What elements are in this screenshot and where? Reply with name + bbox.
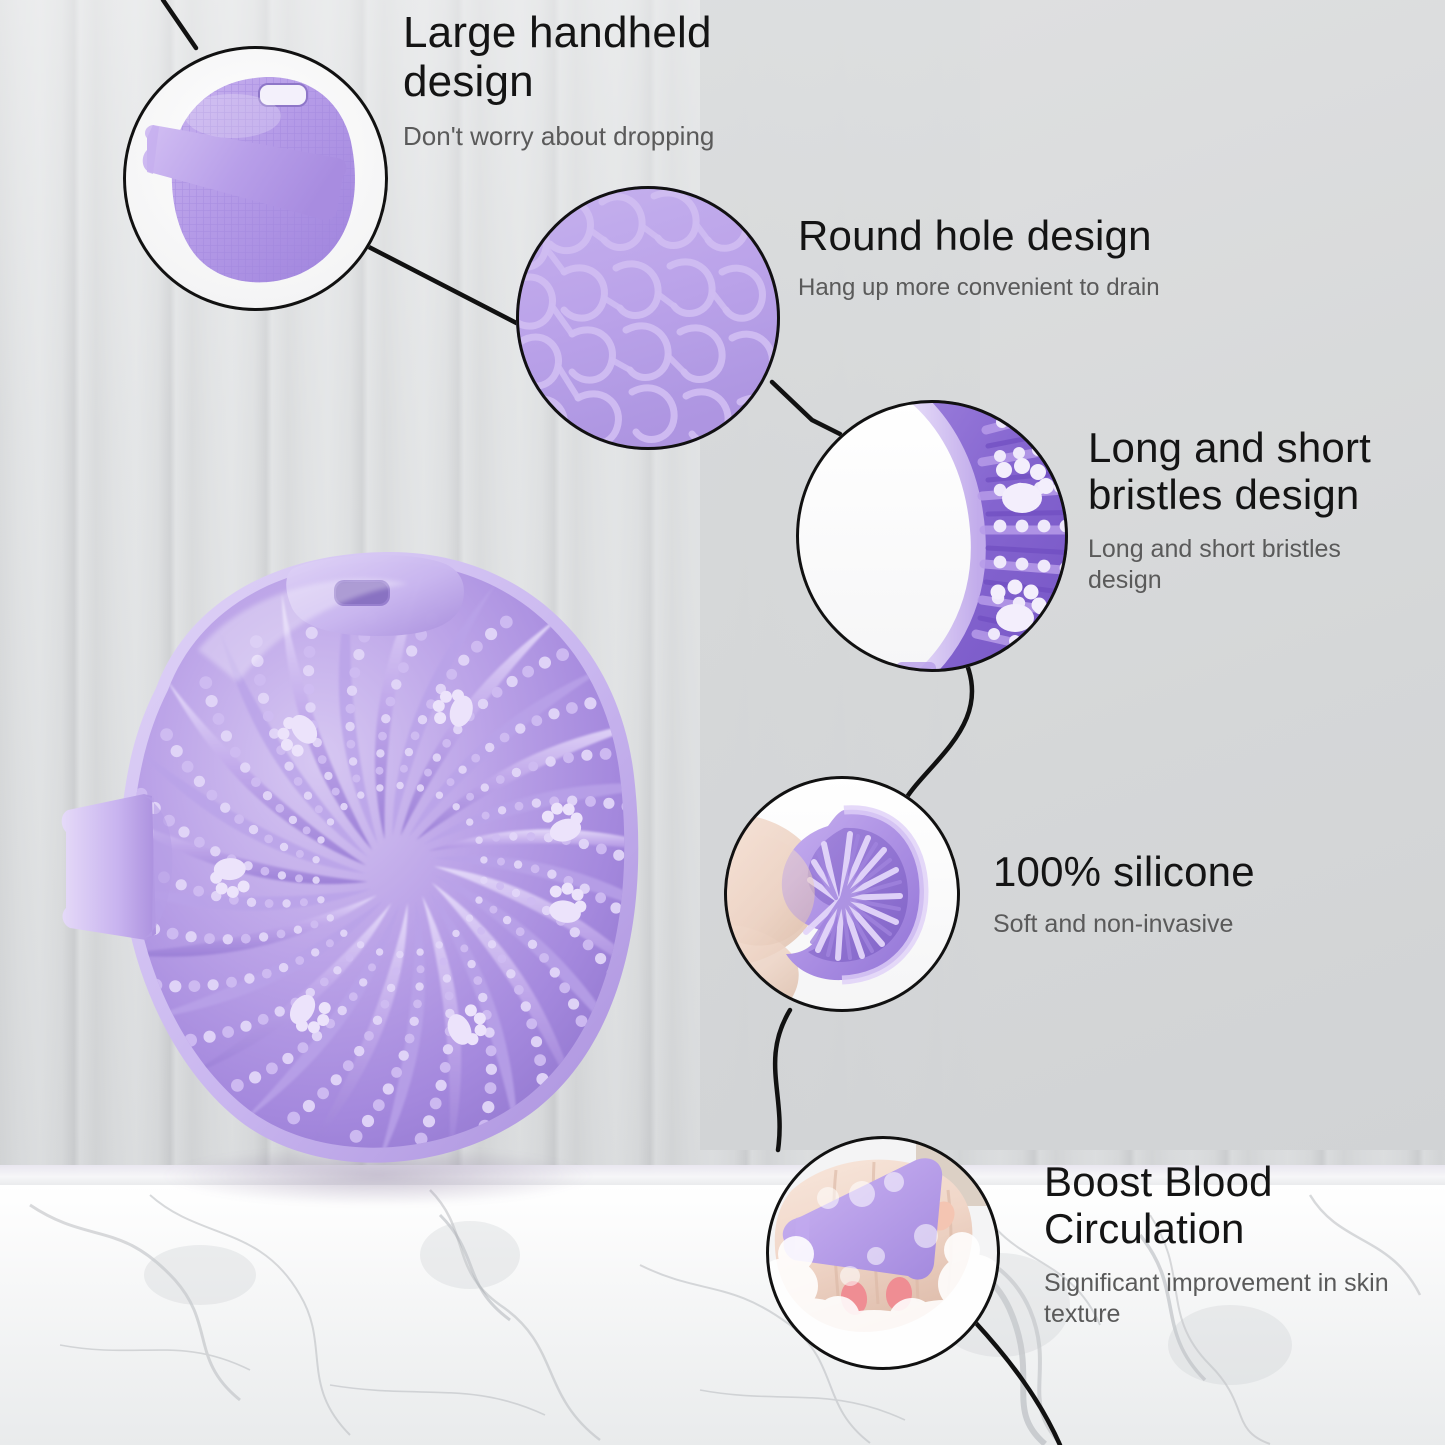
bristle-dot — [547, 870, 556, 879]
bristle-dot — [304, 792, 312, 800]
feature-text-silicone: 100% silicone Soft and non-invasive — [993, 848, 1393, 940]
bristle-dot — [222, 1026, 234, 1038]
bristle-dot — [436, 792, 443, 799]
bristle-dot — [515, 723, 525, 733]
feature-title-3-line2: bristles design — [1088, 471, 1359, 518]
bristle-dot — [354, 1046, 364, 1056]
bristle-dot — [405, 748, 413, 756]
bristle-dot — [312, 856, 319, 863]
feature-text-blood-circulation: Boost Blood Circulation Significant impr… — [1044, 1158, 1424, 1329]
bristle-dot — [258, 693, 269, 704]
bristle-dot — [261, 867, 270, 876]
bristle-dot — [160, 728, 173, 741]
bristle-dot — [193, 886, 204, 897]
feature-subtitle-1: Don't worry about dropping — [403, 121, 823, 153]
bristle-dot — [512, 889, 520, 897]
bristle-dot — [466, 818, 473, 825]
bristle-dot — [424, 769, 432, 777]
bristle-dot — [481, 783, 489, 791]
bristle-dot — [340, 930, 347, 937]
bristle-dot — [496, 882, 504, 890]
bristle-dot — [522, 666, 534, 678]
feature-subtitle-3: Long and short bristles design — [1088, 534, 1418, 595]
bristle-dot — [528, 940, 537, 949]
bristle-dot — [478, 993, 487, 1002]
bristle-dot — [194, 837, 205, 848]
bristle-dot — [475, 837, 482, 844]
bristle-dot — [304, 646, 316, 658]
bristle-dot — [376, 948, 383, 955]
bristle-dot — [488, 940, 496, 948]
feature-title-5-line2: Circulation — [1044, 1205, 1245, 1252]
bristle-dot — [398, 662, 409, 673]
bristle-dot — [306, 627, 318, 639]
bristle-dot — [471, 641, 483, 653]
callout-image-large-handheld — [123, 46, 388, 311]
bristle-dot — [310, 920, 318, 928]
bristle-dot — [639, 926, 651, 938]
feature-title-4: 100% silicone — [993, 848, 1393, 895]
feature-title-5: Boost Blood Circulation — [1044, 1158, 1424, 1252]
bristle-dot — [282, 1053, 293, 1064]
bristle-dot — [327, 914, 334, 921]
bristle-dot — [539, 953, 549, 963]
bristle-dot — [346, 704, 356, 714]
bristle-dot — [178, 826, 189, 837]
bristle-dot — [376, 767, 384, 775]
feature-title-3: Long and short bristles design — [1088, 424, 1418, 518]
bristle-dot — [423, 1115, 435, 1127]
bristle-dot — [600, 748, 612, 760]
bristle-dot — [581, 750, 592, 761]
bristle-dot — [583, 940, 594, 951]
bristle-dot — [443, 1044, 453, 1054]
bristle-dot — [467, 960, 475, 968]
bristle-dot — [566, 702, 578, 714]
bristle-dot — [362, 1115, 374, 1127]
bristle-dot — [532, 798, 541, 807]
bristle-dot — [210, 846, 220, 856]
bristle-dot — [340, 803, 347, 810]
bristle-dot — [263, 711, 274, 722]
bristle-dot — [617, 983, 629, 995]
bristle-dot — [436, 941, 443, 948]
bristle-dot — [478, 699, 488, 709]
bristle-dot — [596, 844, 607, 855]
bristle-dot — [186, 931, 197, 942]
bristle-dot — [353, 649, 364, 660]
bristle-dot — [347, 686, 357, 696]
bristle-dot — [221, 730, 232, 741]
bristle-dot — [486, 1064, 497, 1075]
bristle-dot — [516, 927, 525, 936]
bristle-dot — [415, 982, 423, 990]
bristle-dot — [320, 978, 329, 987]
bristle-dot — [343, 1060, 354, 1071]
bristle-dot — [570, 927, 580, 937]
bristle-dot — [595, 892, 606, 903]
bristle-dot — [568, 998, 579, 1009]
bristle-dot — [500, 733, 510, 743]
bristle-dot — [447, 778, 455, 786]
bristle-dot — [473, 976, 482, 985]
bristle-dot — [531, 864, 540, 873]
bristle-dot — [303, 665, 314, 676]
bristle-dot — [295, 956, 304, 965]
bristle-dot — [663, 875, 676, 888]
bristle-dot — [349, 757, 357, 765]
bristle-dot — [514, 860, 522, 868]
bristle-dot — [350, 1130, 363, 1143]
bristle-dot — [277, 930, 286, 939]
feature-title-5-line1: Boost Blood — [1044, 1158, 1273, 1205]
bristle-dot — [506, 969, 515, 978]
bristle-dot — [244, 973, 254, 983]
bristle-dot — [381, 714, 390, 723]
bristle-dot — [527, 832, 536, 841]
bristle-dot — [471, 754, 480, 763]
bristle-dot — [528, 762, 538, 772]
bristle-dot — [258, 1014, 269, 1025]
bristle-dot — [627, 999, 640, 1012]
feature-title-2: Round hole design — [798, 212, 1268, 259]
bristle-dot — [315, 805, 323, 813]
bristle-dot — [526, 1018, 537, 1029]
bristle-dot — [453, 803, 460, 810]
feature-subtitle-5: Significant improvement in skin texture — [1044, 1268, 1424, 1329]
bristle-dot — [417, 965, 425, 973]
bristle-dot — [284, 762, 293, 771]
bristle-dot — [638, 749, 651, 762]
bristle-dot — [492, 834, 500, 842]
bristle-dot — [223, 934, 233, 944]
bristle-dot — [658, 810, 671, 823]
bristle-dot — [458, 655, 469, 666]
bristle-dot — [194, 776, 205, 787]
bristle-dot — [446, 669, 457, 680]
bristle-dot — [411, 731, 420, 740]
main-product-image — [48, 540, 688, 1220]
bristle-dot — [445, 992, 454, 1001]
bristle-dot — [440, 1062, 451, 1073]
bristle-dot — [333, 966, 341, 974]
bristle-dot — [317, 1087, 329, 1099]
feature-title-1-line2: design — [403, 57, 534, 106]
bristle-dot — [263, 791, 272, 800]
feature-title-3-line1: Long and short — [1088, 424, 1371, 471]
bristle-dot — [266, 1063, 278, 1075]
bristle-dot — [176, 879, 187, 890]
bristle-dot — [496, 775, 505, 784]
bristle-dot — [317, 836, 324, 843]
bristle-dot — [436, 1080, 447, 1091]
bristle-dot — [182, 761, 194, 773]
bristle-dot — [287, 1112, 300, 1125]
bristle-dot — [460, 944, 468, 952]
bristle-dot — [279, 963, 288, 972]
bristle-dot — [507, 676, 518, 687]
bristle-dot — [400, 765, 408, 773]
bristle-dot — [213, 713, 225, 725]
bristle-dot — [349, 667, 360, 678]
bristle-dot — [357, 791, 364, 798]
bristle-dot — [376, 749, 384, 757]
bristle-dot — [338, 1006, 347, 1015]
bristle-dot — [399, 1050, 409, 1060]
feature-title-1: Large handheld design — [403, 8, 823, 107]
bristle-dot — [167, 928, 179, 940]
bristle-dot — [318, 755, 327, 764]
feature-subtitle-4: Soft and non-invasive — [993, 909, 1393, 940]
bristle-dot — [331, 1074, 342, 1085]
bristle-dot — [251, 777, 261, 787]
bristle-dot — [406, 645, 417, 656]
bristle-dot — [534, 1054, 546, 1066]
bristle-dot — [189, 980, 201, 992]
bristle-dot — [326, 939, 334, 947]
bristle-dot — [247, 898, 256, 907]
bristle-dot — [489, 906, 497, 914]
bristle-dot — [548, 708, 559, 719]
bristle-dot — [249, 825, 258, 834]
bristle-dot — [378, 732, 387, 741]
bristle-dot — [359, 978, 367, 986]
bristle-dot — [345, 722, 354, 731]
bristle-dot — [486, 1045, 497, 1056]
bristle-dot — [346, 954, 354, 962]
bristle-dot — [647, 865, 659, 877]
bristle-dot — [332, 788, 340, 796]
bristle-dot — [386, 697, 396, 707]
bristle-dot — [357, 941, 364, 948]
bristle-dot — [373, 1016, 382, 1025]
bristle-dot — [204, 933, 215, 944]
bristle-dot — [458, 766, 466, 774]
bristle-dot — [240, 1021, 251, 1032]
bristle-dot — [416, 948, 423, 955]
bristle-dot — [610, 902, 621, 913]
bristle-dot — [278, 871, 286, 879]
bristle-dot — [327, 818, 334, 825]
bristle-dot — [442, 739, 451, 748]
callout-image-silicone-flex — [724, 776, 960, 1012]
bristle-dot — [440, 958, 448, 966]
bristle-dot — [527, 897, 536, 906]
bristle-dot — [381, 1000, 390, 1009]
bristle-dot — [515, 802, 524, 811]
bristle-dot — [311, 948, 319, 956]
callout-image-round-hole — [516, 186, 780, 450]
bristle-dot — [294, 926, 302, 934]
bristle-dot — [503, 916, 511, 924]
bristle-dot — [475, 896, 482, 903]
bristle-dot — [300, 898, 308, 906]
bristle-dot — [249, 1071, 261, 1083]
bristle-dot — [531, 715, 542, 726]
bristle-dot — [368, 963, 376, 971]
bristle-dot — [417, 784, 424, 791]
bristle-dot — [220, 803, 230, 813]
bristle-dot — [303, 1100, 315, 1112]
bristle-dot — [640, 805, 652, 817]
bristle-dot — [230, 747, 241, 758]
bristle-dot — [512, 768, 521, 777]
bristle-dot — [289, 816, 297, 824]
bristle-dot — [324, 772, 332, 780]
bristle-dot — [275, 804, 284, 813]
bristle-dot — [498, 954, 507, 963]
bristle-dot — [497, 858, 505, 866]
bristle-dot — [539, 657, 551, 669]
bristle-dot — [305, 702, 315, 712]
bristle-dot — [392, 967, 400, 975]
bristle-dot — [466, 914, 473, 921]
bristle-dot — [296, 850, 304, 858]
bristle-dot — [226, 977, 237, 988]
bristle-dot — [304, 684, 315, 695]
bristle-dot — [317, 896, 324, 903]
bristle-dot — [482, 812, 490, 820]
bristle-dot — [376, 784, 383, 791]
bristle-dot — [433, 753, 441, 761]
bristle-dot — [364, 1031, 374, 1041]
bristle-dot — [563, 752, 574, 763]
bristle-dot — [298, 1042, 309, 1053]
bristle-dot — [550, 967, 560, 977]
bristle-dot — [373, 1099, 385, 1111]
bristle-dot — [240, 762, 250, 772]
bristle-dot — [349, 992, 358, 1001]
bristle-dot — [199, 676, 212, 689]
bristle-dot — [396, 782, 403, 789]
bristle-dot — [653, 939, 666, 952]
bristle-dot — [480, 856, 487, 863]
bristle-dot — [514, 985, 524, 995]
bristle-dot — [352, 775, 360, 783]
bristle-dot — [204, 1031, 216, 1043]
infographic-canvas: Large handheld design Don't worry about … — [0, 0, 1445, 1445]
bristle-dot — [387, 984, 395, 992]
feature-text-round-hole: Round hole design Hang up more convenien… — [798, 212, 1268, 302]
bristle-dot — [480, 877, 487, 884]
callout-image-bristles — [796, 400, 1068, 672]
bristle-dot — [391, 1067, 402, 1078]
bristle-dot — [264, 835, 273, 844]
bristle-dot — [559, 982, 570, 993]
bristle-dot — [231, 1079, 244, 1092]
bristle-dot — [485, 628, 497, 640]
bristle-dot — [603, 798, 614, 809]
feature-title-1-line1: Large handheld — [403, 8, 712, 57]
bristle-dot — [265, 899, 274, 908]
bristle-dot — [452, 930, 459, 937]
bristle-dot — [208, 979, 219, 990]
bristle-dot — [383, 1083, 394, 1094]
bristle-dot — [500, 616, 513, 629]
bristle-dot — [509, 832, 517, 840]
bristle-dot — [405, 1034, 415, 1044]
bristle-dot — [234, 814, 244, 824]
bristle-dot — [295, 874, 303, 882]
bristle-dot — [556, 648, 569, 661]
bristle-dot — [169, 980, 181, 992]
bristle-dot — [282, 899, 290, 907]
hand-strap — [62, 794, 156, 940]
bristle-dot — [206, 695, 218, 707]
bristle-dot — [588, 1051, 601, 1064]
bristle-dot — [418, 715, 427, 724]
bristle-dot — [545, 756, 555, 766]
bristle-dot — [312, 876, 319, 883]
bristle-dot — [485, 1082, 497, 1094]
bristle-dot — [303, 826, 311, 834]
bristle-dot — [171, 745, 183, 757]
bristle-dot — [531, 1036, 542, 1047]
bristle-dot — [485, 743, 494, 752]
bristle-dot — [241, 934, 251, 944]
bristle-dot — [613, 850, 624, 861]
bristle-dot — [443, 974, 451, 982]
bristle-dot — [347, 740, 356, 749]
bristle-dot — [492, 687, 503, 698]
bristle-dot — [410, 1017, 419, 1026]
bristle-dot — [294, 777, 303, 786]
bristle-dot — [262, 969, 272, 979]
bristle-dot — [584, 697, 596, 709]
bristle-dot — [595, 953, 606, 964]
bristle-dot — [280, 843, 288, 851]
bristle-dot — [275, 1006, 285, 1016]
bristle-dot — [413, 1000, 422, 1009]
bristle-dot — [207, 790, 218, 801]
bristle-dot — [521, 1001, 531, 1011]
bristle-dot — [254, 674, 266, 686]
bristle-dot — [259, 932, 268, 941]
bristle-dot — [482, 1101, 494, 1113]
bristle-dot — [430, 1098, 442, 1110]
bristle-dot — [579, 839, 589, 849]
bristle-dot — [477, 927, 485, 935]
bristle-dot — [396, 951, 403, 958]
feature-text-large-handheld: Large handheld design Don't worry about … — [403, 8, 823, 152]
feature-text-bristles: Long and short bristles design Long and … — [1088, 424, 1418, 595]
callout-image-soapy-hand — [766, 1136, 1000, 1370]
feature-subtitle-2: Hang up more convenient to drain — [798, 273, 1268, 302]
bristle-dot — [585, 796, 596, 807]
bristle-dot — [466, 793, 474, 801]
bristle-dot — [391, 679, 401, 689]
bristle-dot — [498, 806, 506, 814]
